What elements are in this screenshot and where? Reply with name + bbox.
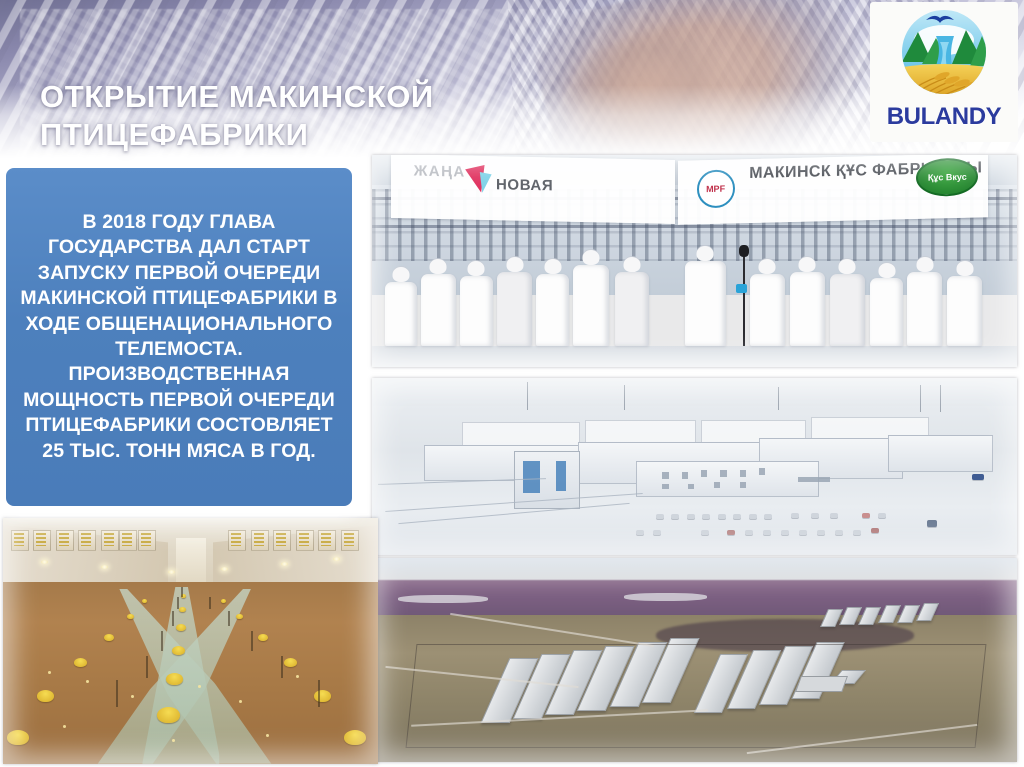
worker xyxy=(497,272,532,346)
glass-facade xyxy=(556,461,566,491)
worker xyxy=(460,276,494,346)
slide: ОТКРЫТИЕ МАКИНСКОЙ ПТИЦЕФАБРИКИ xyxy=(0,0,1024,767)
worker xyxy=(750,274,785,346)
photo-poultry-house-interior xyxy=(3,518,378,764)
bulandy-logo: BULANDY xyxy=(870,2,1018,142)
microphone-icon xyxy=(743,253,745,346)
banner-left: ЖАҢА НОВАЯ xyxy=(391,155,675,224)
mpf-logo-text: MPF xyxy=(706,184,725,194)
photo-plant-winter-aerial xyxy=(372,378,1017,555)
worker xyxy=(536,274,570,346)
banner-left-russian: НОВАЯ xyxy=(496,177,553,195)
photo-opening-ceremony: ЖАҢА НОВАЯ MPF МАКИНСК ҚҰС ФАБРИКАСЫ Құс… xyxy=(372,155,1017,367)
plant-building xyxy=(888,435,993,472)
microphone-flag-icon xyxy=(736,284,747,293)
snow-field xyxy=(462,422,580,447)
banner-left-kazakh: ЖАҢА xyxy=(414,162,466,180)
lake xyxy=(398,595,488,603)
banner-right: MPF МАКИНСК ҚҰС ФАБРИКАСЫ Құс Вкус xyxy=(678,155,988,224)
kus-vkus-badge-icon: Құс Вкус xyxy=(917,157,979,197)
lake xyxy=(624,593,708,601)
conveyor-rail xyxy=(372,225,1017,228)
perimeter-fence xyxy=(405,644,986,748)
hall-floor xyxy=(372,346,1017,367)
worker xyxy=(790,272,825,346)
logo-text: BULANDY xyxy=(887,103,1002,131)
blue-text-box: В 2018 ГОДУ ГЛАВА ГОСУДАРСТВА ДАЛ СТАРТ … xyxy=(6,168,352,506)
office-wing xyxy=(636,461,819,497)
photo-farm-aerial xyxy=(372,558,1017,762)
worker xyxy=(907,272,942,346)
worker xyxy=(615,272,650,346)
worker xyxy=(947,276,982,346)
mpf-logo-icon: MPF xyxy=(697,170,735,209)
landscape-emblem-icon xyxy=(892,6,996,102)
worker xyxy=(830,274,865,346)
air-duct xyxy=(176,538,206,582)
glass-facade xyxy=(523,461,540,493)
worker xyxy=(870,278,904,346)
callout-text: В 2018 ГОДУ ГЛАВА ГОСУДАРСТВА ДАЛ СТАРТ … xyxy=(16,210,342,464)
worker xyxy=(573,265,609,346)
speaker xyxy=(685,261,726,346)
worker xyxy=(421,274,456,346)
page-title: ОТКРЫТИЕ МАКИНСКОЙ ПТИЦЕФАБРИКИ xyxy=(40,78,660,154)
worker xyxy=(385,282,417,346)
